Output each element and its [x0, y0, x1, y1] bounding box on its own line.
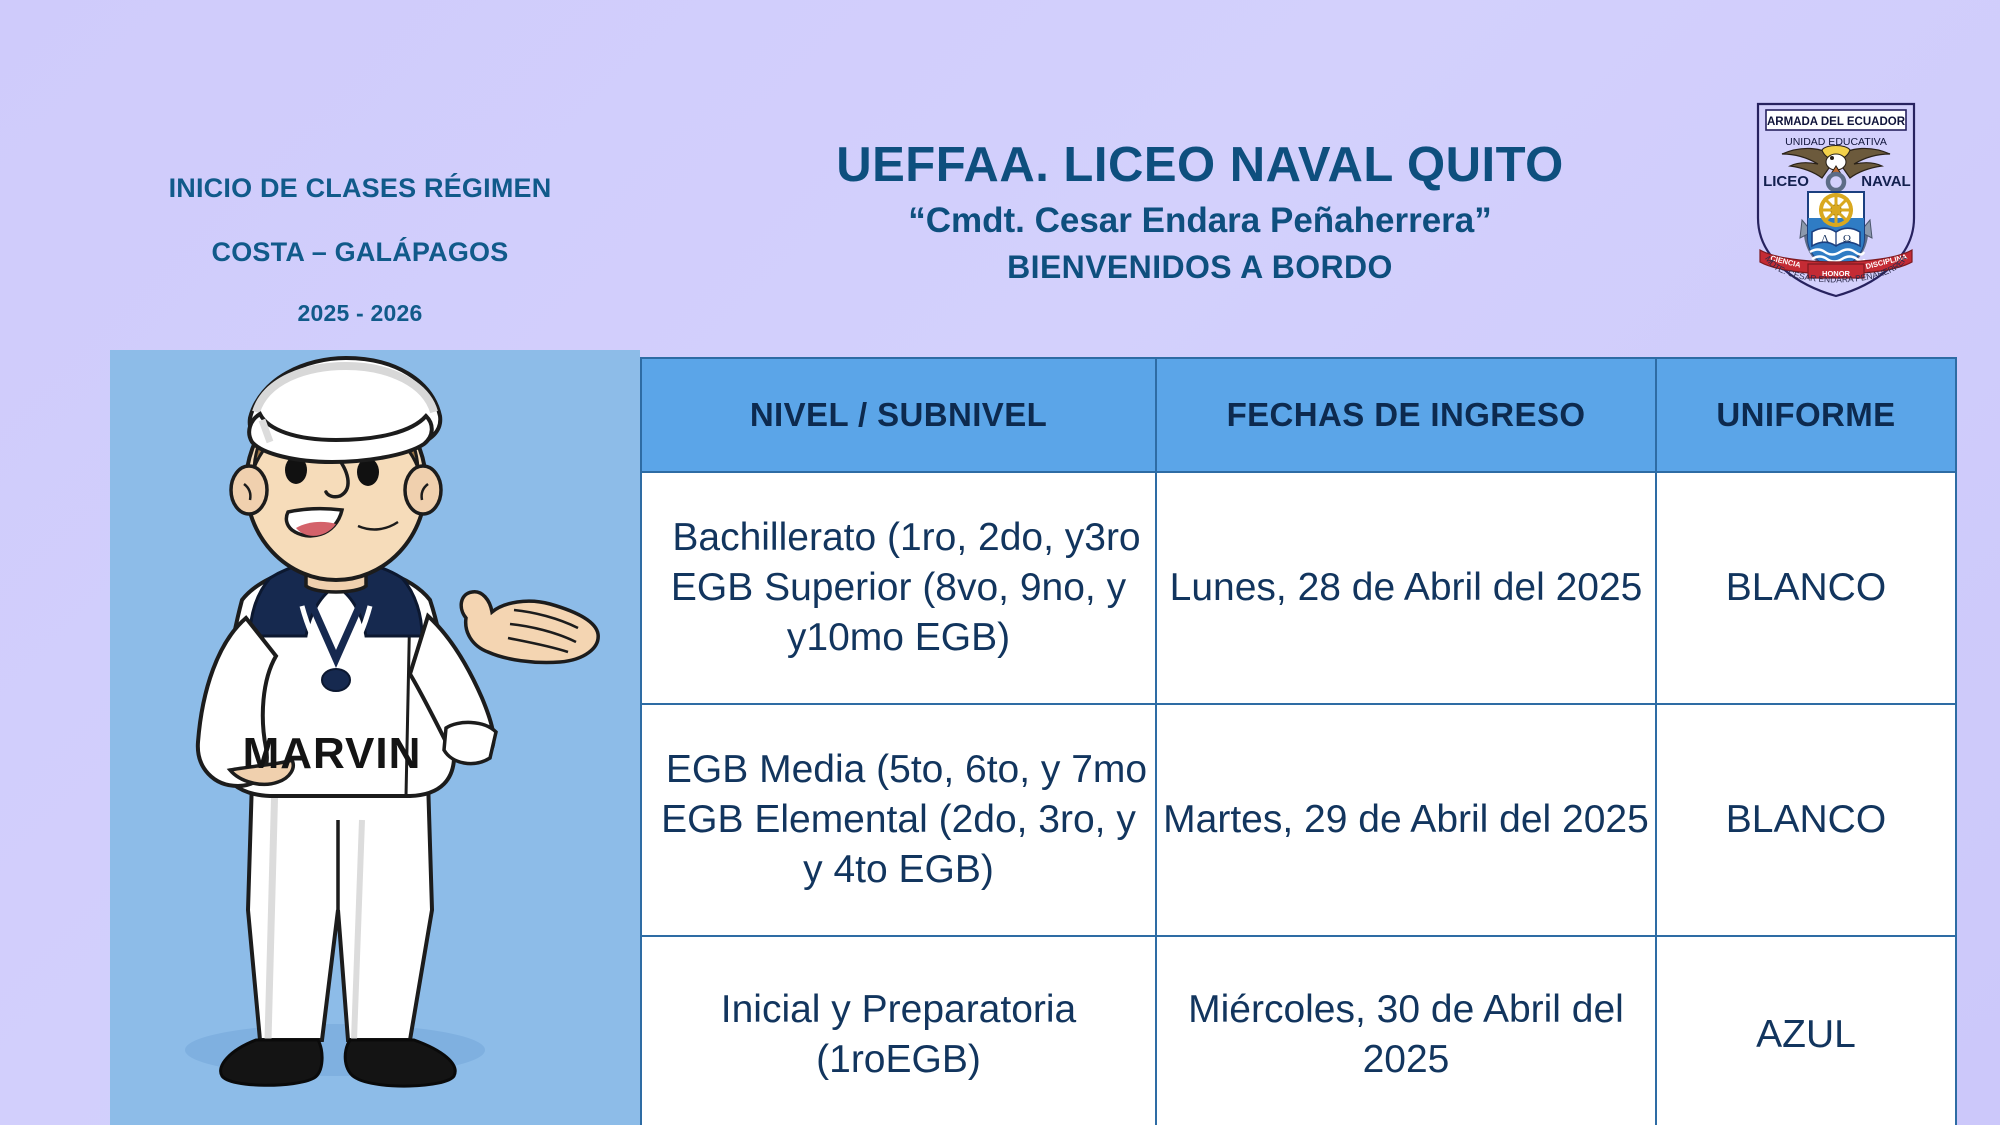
crest-word-liceo: LICEO [1763, 173, 1809, 190]
table-row: EGB Media (5to, 6to, y 7mo EGB Elemental… [641, 704, 1956, 936]
left-heading-line-1: INICIO DE CLASES RÉGIMEN [60, 175, 660, 202]
crest-omega: Ω [1843, 233, 1851, 245]
cell-nivel: EGB Media (5to, 6to, y 7mo EGB Elemental… [641, 704, 1156, 936]
page-subtitle-name: “Cmdt. Cesar Endara Peñaherrera” [660, 203, 1740, 240]
left-heading-line-3: 2025 - 2026 [60, 302, 660, 325]
nivel-line: Inicial y Preparatoria [642, 985, 1155, 1035]
schedule-table: NIVEL / SUBNIVEL FECHAS DE INGRESO UNIFO… [640, 357, 1957, 1125]
cell-uniforme: AZUL [1656, 936, 1956, 1125]
title-block: UEFFAA. LICEO NAVAL QUITO “Cmdt. Cesar E… [660, 140, 1740, 285]
column-header-uniforme: UNIFORME [1656, 358, 1956, 472]
table-row: Inicial y Preparatoria (1roEGB) Miércole… [641, 936, 1956, 1125]
crest-word-naval: NAVAL [1861, 173, 1910, 190]
marvin-sailor-mascot-icon: MARVIN [110, 350, 640, 1125]
nivel-line: y10mo EGB) [642, 613, 1155, 663]
crest-icon: ARMADA DEL ECUADOR UNIDAD EDUCATIVA LICE… [1752, 100, 1920, 300]
crest-top-band-text: ARMADA DEL ECUADOR [1767, 116, 1906, 128]
nivel-line: EGB Media (5to, 6to, y 7mo [650, 745, 1163, 795]
table-row: Bachillerato (1ro, 2do, y3ro EGB Superio… [641, 472, 1956, 704]
nivel-line: EGB Superior (8vo, 9no, y [642, 563, 1155, 613]
cell-fecha: Martes, 29 de Abril del 2025 [1156, 704, 1656, 936]
poster-canvas: INICIO DE CLASES RÉGIMEN COSTA – GALÁPAG… [0, 0, 2000, 1125]
mascot-name-label: MARVIN [243, 729, 422, 778]
mascot-panel: MARVIN [110, 350, 640, 1125]
cell-fecha: Miércoles, 30 de Abril del 2025 [1156, 936, 1656, 1125]
column-header-nivel: NIVEL / SUBNIVEL [641, 358, 1156, 472]
cell-uniforme: BLANCO [1656, 704, 1956, 936]
left-heading-line-2: COSTA – GALÁPAGOS [60, 239, 660, 266]
crest-lambda: Λ [1821, 233, 1829, 245]
table-header: NIVEL / SUBNIVEL FECHAS DE INGRESO UNIFO… [641, 358, 1956, 472]
nivel-line: y 4to EGB) [642, 845, 1155, 895]
left-heading-block: INICIO DE CLASES RÉGIMEN COSTA – GALÁPAG… [60, 175, 660, 325]
nivel-line: (1roEGB) [642, 1035, 1155, 1085]
ship-wheel-icon [1819, 193, 1853, 227]
cell-uniforme: BLANCO [1656, 472, 1956, 704]
page-subtitle-welcome: BIENVENIDOS A BORDO [660, 251, 1740, 285]
cell-nivel: Inicial y Preparatoria (1roEGB) [641, 936, 1156, 1125]
column-header-fechas: FECHAS DE INGRESO [1156, 358, 1656, 472]
table-body: Bachillerato (1ro, 2do, y3ro EGB Superio… [641, 472, 1956, 1125]
liceo-naval-crest-logo: ARMADA DEL ECUADOR UNIDAD EDUCATIVA LICE… [1752, 100, 1920, 300]
table-header-row: NIVEL / SUBNIVEL FECHAS DE INGRESO UNIFO… [641, 358, 1956, 472]
nivel-line: EGB Elemental (2do, 3ro, y [642, 795, 1155, 845]
page-title: UEFFAA. LICEO NAVAL QUITO [660, 140, 1740, 191]
cell-fecha: Lunes, 28 de Abril del 2025 [1156, 472, 1656, 704]
nivel-line: Bachillerato (1ro, 2do, y3ro [650, 513, 1163, 563]
cell-nivel: Bachillerato (1ro, 2do, y3ro EGB Superio… [641, 472, 1156, 704]
